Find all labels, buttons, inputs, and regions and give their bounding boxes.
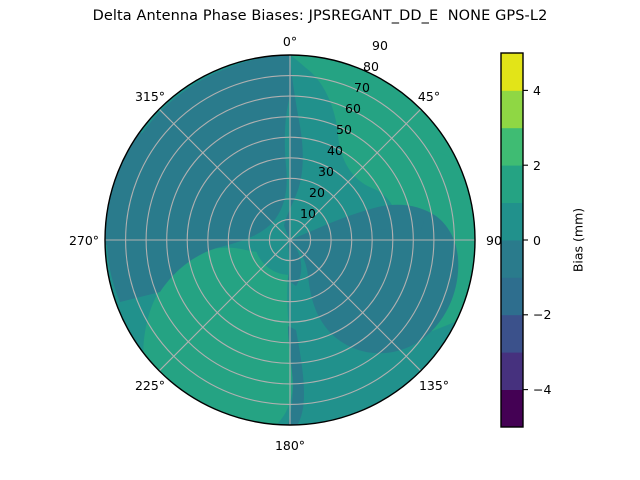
colorbar-band-1: [501, 352, 523, 390]
colorbar-band-7: [501, 128, 523, 166]
radial-label-70: 70: [354, 80, 370, 95]
colorbar-band-9: [501, 53, 523, 91]
radial-label-10: 10: [300, 206, 316, 221]
colorbar-band-4: [501, 240, 523, 278]
angular-label-90: 90: [486, 233, 502, 248]
radial-label-40: 40: [327, 143, 343, 158]
polar-skyplot: 0° 45° 90 135° 180° 225° 270° 315° 10 20…: [0, 0, 640, 480]
angular-label-180: 180°: [275, 438, 305, 453]
colorbar-tick-0: 0: [533, 233, 541, 248]
radial-label-80: 80: [363, 59, 379, 74]
colorbar[interactable]: 4 2 0 −2 −4: [501, 53, 551, 427]
colorbar-tick-labels: 4 2 0 −2 −4: [533, 83, 551, 397]
angular-label-135: 135°: [419, 378, 449, 393]
colorbar-tick-2: 2: [533, 158, 541, 173]
colorbar-tick-neg2: −2: [533, 307, 551, 322]
colorbar-band-3: [501, 277, 523, 315]
colorbar-band-5: [501, 203, 523, 241]
angular-label-0: 0°: [283, 34, 297, 49]
colorbar-bands: [501, 53, 523, 427]
colorbar-band-2: [501, 315, 523, 353]
angular-label-225: 225°: [135, 378, 165, 393]
figure-canvas: Delta Antenna Phase Biases: JPSREGANT_DD…: [0, 0, 640, 480]
colorbar-axis-label: Bias (mm): [571, 208, 586, 272]
radial-label-90: 90: [372, 38, 388, 53]
colorbar-tick-neg4: −4: [533, 382, 551, 397]
radial-label-30: 30: [318, 164, 334, 179]
radial-label-20: 20: [309, 185, 325, 200]
angular-label-45: 45°: [418, 89, 440, 104]
angular-label-315: 315°: [135, 89, 165, 104]
radial-label-60: 60: [345, 101, 361, 116]
colorbar-band-0: [501, 390, 523, 428]
radial-label-50: 50: [336, 122, 352, 137]
colorbar-tick-4: 4: [533, 83, 541, 98]
polar-grid: [105, 55, 475, 425]
colorbar-band-6: [501, 165, 523, 203]
angular-label-270: 270°: [69, 233, 99, 248]
colorbar-band-8: [501, 90, 523, 128]
colorbar-ticks: [523, 90, 528, 389]
